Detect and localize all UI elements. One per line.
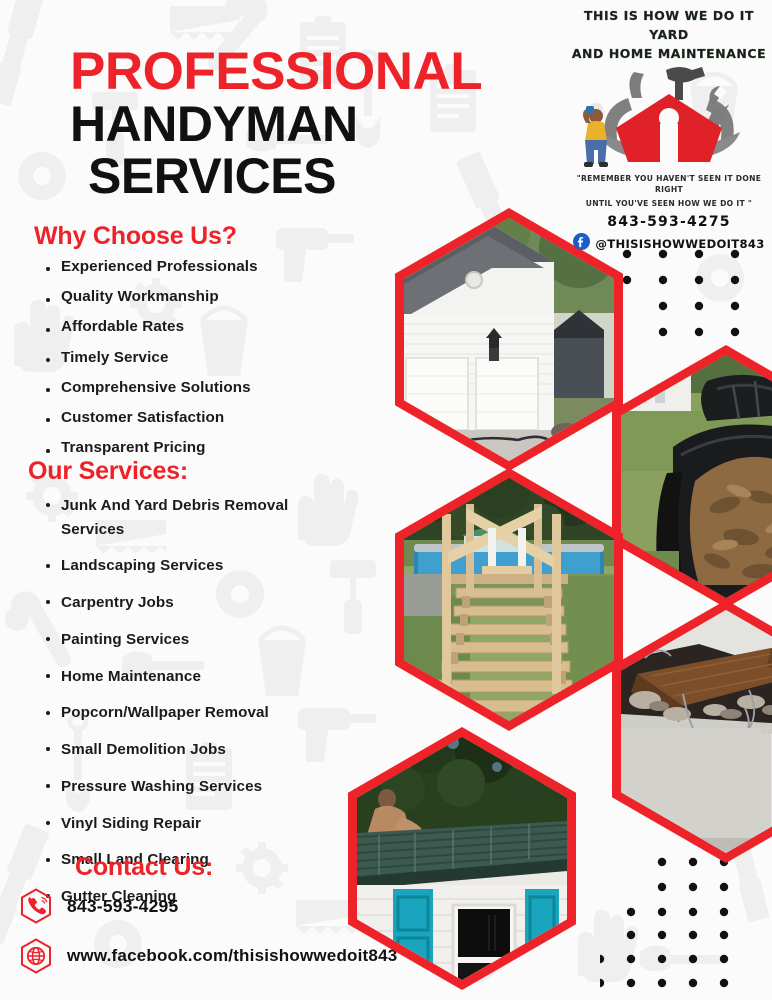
- house-hammer-wrench-logo-icon: [570, 66, 768, 171]
- contact-heading: Contact Us:: [75, 853, 213, 882]
- list-item: Junk And Yard Debris Removal Services: [44, 494, 334, 541]
- photo-hexagon-debris: [612, 345, 772, 608]
- globe-hexagon-icon: [20, 938, 52, 974]
- list-item: Transparent Pricing: [44, 439, 258, 456]
- list-item: Pressure Washing Services: [44, 775, 334, 799]
- phone-hexagon-icon: [20, 888, 52, 924]
- headline-line-3: SERVICES: [88, 150, 530, 202]
- headline-line-2: HANDYMAN: [70, 98, 530, 150]
- list-item: Experienced Professionals: [44, 258, 258, 275]
- contact-phone-row[interactable]: 843-593-4295: [20, 888, 178, 924]
- logo-name-line-1: THIS IS HOW WE DO IT YARD: [570, 6, 768, 44]
- list-item: Timely Service: [44, 349, 258, 366]
- logo-phone-number: 843-593-4275: [570, 214, 768, 230]
- list-item: Popcorn/Wallpaper Removal: [44, 701, 334, 725]
- company-logo: THIS IS HOW WE DO IT YARD AND HOME MAINT…: [570, 6, 768, 246]
- headline-line-1: PROFESSIONAL: [70, 46, 530, 98]
- list-item: Quality Workmanship: [44, 288, 258, 305]
- page-title: PROFESSIONAL HANDYMAN SERVICES: [70, 46, 530, 202]
- photo-hexagon-shed: [348, 727, 576, 990]
- logo-facebook-row[interactable]: @THISISHOWWEDOIT843: [570, 233, 768, 255]
- list-item: Small Demolition Jobs: [44, 738, 334, 762]
- why-choose-list: Experienced Professionals Quality Workma…: [44, 258, 258, 469]
- list-item: Carpentry Jobs: [44, 591, 334, 615]
- logo-tagline-line-1: "REMEMBER YOU HAVEN'T SEEN IT DONE RIGHT: [570, 173, 768, 197]
- dot-grid-bottom: [600, 855, 765, 990]
- why-choose-heading: Why Choose Us?: [34, 222, 237, 251]
- logo-name-line-2: AND HOME MAINTENANCE: [570, 44, 768, 63]
- list-item: Vinyl Siding Repair: [44, 812, 334, 836]
- contact-phone-number: 843-593-4295: [67, 896, 178, 917]
- flyer-page: THIS IS HOW WE DO IT YARD AND HOME MAINT…: [0, 0, 772, 1000]
- list-item: Landscaping Services: [44, 554, 334, 578]
- list-item: Comprehensive Solutions: [44, 379, 258, 396]
- facebook-icon: [573, 233, 590, 255]
- contact-website-row[interactable]: www.facebook.com/thisishowwedoit843: [20, 938, 397, 974]
- list-item: Home Maintenance: [44, 665, 334, 689]
- services-heading: Our Services:: [28, 457, 188, 486]
- photo-hexagon-demolition: [612, 600, 772, 863]
- logo-facebook-handle: @THISISHOWWEDOIT843: [595, 237, 764, 251]
- photo-hexagon-stairs: [395, 468, 623, 731]
- list-item: Painting Services: [44, 628, 334, 652]
- dot-grid-top: [622, 248, 752, 338]
- list-item: Affordable Rates: [44, 318, 258, 335]
- list-item: Customer Satisfaction: [44, 409, 258, 426]
- photo-yard-debris-truck-load: [621, 355, 772, 598]
- photo-ceiling-demolition-damage: [621, 610, 772, 853]
- logo-tagline-line-2: UNTIL YOU'VE SEEN HOW WE DO IT ": [570, 198, 768, 210]
